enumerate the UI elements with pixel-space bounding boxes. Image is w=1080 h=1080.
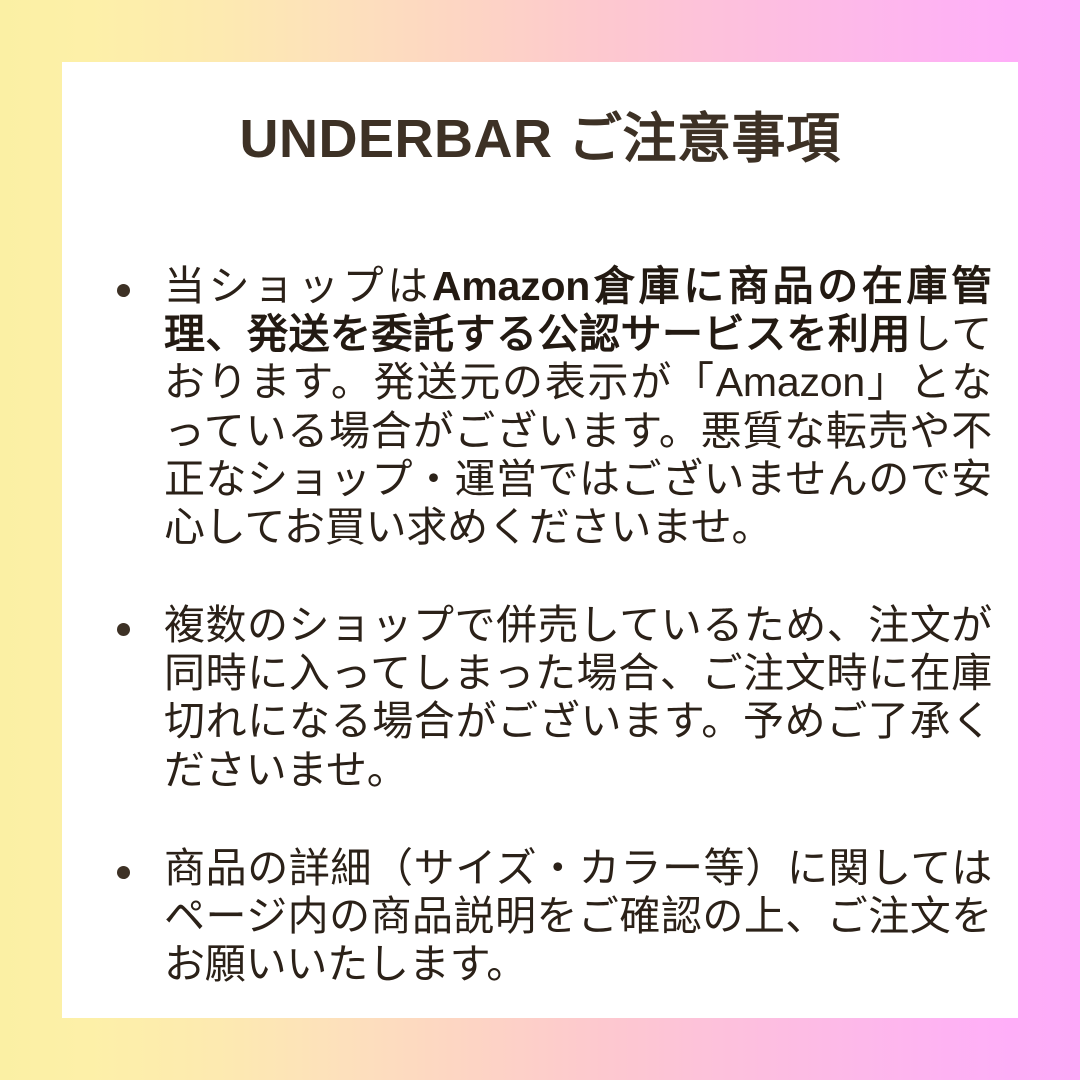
bullet-dot-icon [117, 623, 130, 636]
notice-list: 当ショップはAmazon倉庫に商品の在庫管理、発送を委託する公認サービスを利用し… [114, 262, 992, 988]
list-item: 複数のショップで併売しているため、注文が同時に入ってしまった場合、ご注文時に在庫… [114, 601, 992, 794]
list-item-text: 商品の詳細（サイズ・カラー等）に関してはページ内の商品説明をご確認の上、ご注文を… [164, 844, 992, 989]
plain-text: 複数のショップで併売しているため、注文が同時に入ってしまった場合、ご注文時に在庫… [164, 602, 992, 793]
list-item: 商品の詳細（サイズ・カラー等）に関してはページ内の商品説明をご確認の上、ご注文を… [114, 844, 992, 989]
plain-text: 当ショップは [164, 263, 432, 309]
bullet-dot-icon [117, 284, 130, 297]
bullet-dot-icon [117, 866, 130, 879]
list-item-text: 複数のショップで併売しているため、注文が同時に入ってしまった場合、ご注文時に在庫… [164, 601, 992, 794]
plain-text: 商品の詳細（サイズ・カラー等）に関してはページ内の商品説明をご確認の上、ご注文を… [164, 845, 992, 987]
list-item: 当ショップはAmazon倉庫に商品の在庫管理、発送を委託する公認サービスを利用し… [114, 262, 992, 551]
poster-background: UNDERBAR ご注意事項 当ショップはAmazon倉庫に商品の在庫管理、発送… [0, 0, 1080, 1080]
notice-card: UNDERBAR ご注意事項 当ショップはAmazon倉庫に商品の在庫管理、発送… [62, 62, 1018, 1018]
page-title: UNDERBAR ご注意事項 [62, 108, 1018, 170]
list-item-text: 当ショップはAmazon倉庫に商品の在庫管理、発送を委託する公認サービスを利用し… [164, 262, 992, 551]
